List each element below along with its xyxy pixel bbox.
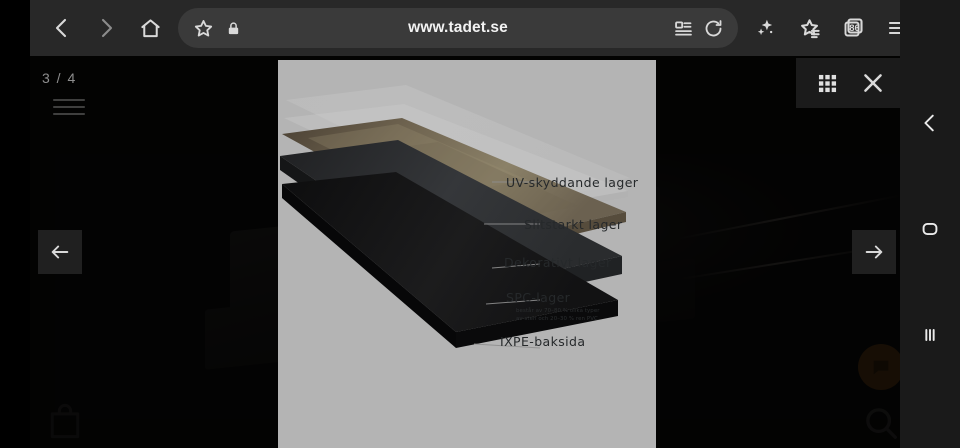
chevron-right-icon[interactable] <box>84 6 128 50</box>
reader-view-icon[interactable] <box>668 13 698 43</box>
url-text[interactable]: www.tadet.se <box>248 19 668 37</box>
layer-label-uv: UV-skyddande lager <box>506 175 638 190</box>
layer-label-spc: SPC-lager består av 70–80 % olika typer … <box>506 290 600 324</box>
star-list-icon[interactable] <box>788 6 832 50</box>
close-icon[interactable] <box>850 60 896 106</box>
layer-label-wear: Slitstarkt lager <box>524 217 622 232</box>
tab-counter-icon[interactable]: 86 <box>832 6 876 50</box>
layer-sub-spc-line1: består av 70–80 % olika typer <box>516 308 600 316</box>
system-recents-icon[interactable] <box>908 313 952 357</box>
sparkle-icon[interactable] <box>744 6 788 50</box>
hamburger-menu-icon[interactable] <box>52 96 86 118</box>
tab-count-label: 86 <box>832 6 876 50</box>
layer-sub-spc-line2: av sten och 20–30 % ren PVC <box>516 316 600 324</box>
left-gutter <box>0 0 30 448</box>
flooring-layers-diagram <box>278 60 656 448</box>
lightbox-image[interactable]: UV-skyddande lager Slitstarkt lager Deko… <box>278 60 656 448</box>
lightbox-counter: 3 / 4 <box>42 70 77 86</box>
layer-label-ixpe: IXPE-baksida <box>500 334 585 349</box>
star-outline-icon[interactable] <box>188 13 218 43</box>
lock-icon[interactable] <box>218 13 248 43</box>
layer-label-decor: Dekorativt lager <box>504 255 612 270</box>
system-navigation-bar <box>900 0 960 448</box>
browser-toolbar: www.tadet.se <box>30 0 930 56</box>
phone-screen: 3 / 4 <box>0 0 960 448</box>
arrow-right-icon[interactable] <box>852 230 896 274</box>
url-bar[interactable]: www.tadet.se <box>178 8 738 48</box>
chevron-left-icon[interactable] <box>40 6 84 50</box>
grid-view-icon[interactable] <box>804 60 850 106</box>
arrow-left-icon[interactable] <box>38 230 82 274</box>
lightbox-controls <box>796 58 904 108</box>
system-back-icon[interactable] <box>908 101 952 145</box>
system-home-icon[interactable] <box>908 207 952 251</box>
home-icon[interactable] <box>128 6 172 50</box>
reload-icon[interactable] <box>698 13 728 43</box>
